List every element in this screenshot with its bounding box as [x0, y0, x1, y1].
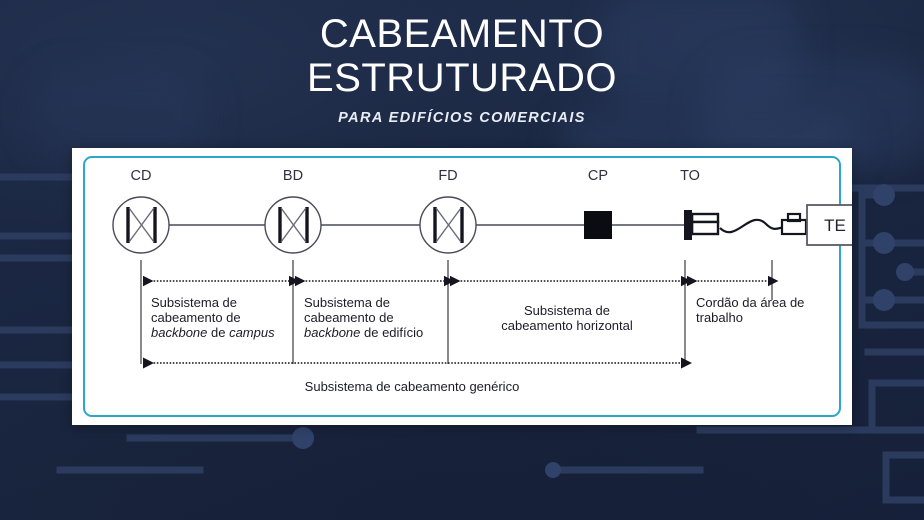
svg-text:cabeamento de: cabeamento de — [304, 310, 394, 325]
slide-root: CABEAMENTO ESTRUTURADO PARA EDIFÍCIOS CO… — [0, 0, 924, 520]
te-label: TE — [824, 216, 846, 235]
segment-label-building-backbone: Subsistema de cabeamento de backbone de … — [304, 295, 423, 340]
slide-header: CABEAMENTO ESTRUTURADO PARA EDIFÍCIOS CO… — [0, 0, 924, 126]
patch-cord — [720, 220, 784, 232]
cabling-diagram: CD BD FD — [72, 148, 852, 425]
seg1-italic: backbone — [304, 325, 360, 340]
diagram-card: CD BD FD — [72, 148, 852, 425]
svg-text:backbone de edifício: backbone de edifício — [304, 325, 423, 340]
consolidation-point-icon — [584, 211, 612, 239]
node-fd-label: FD — [438, 168, 457, 184]
page-title: CABEAMENTO ESTRUTURADO — [0, 0, 924, 100]
segment-label-work-area-cord: Cordão da área de trabalho — [696, 295, 804, 325]
plug-icon — [782, 214, 806, 234]
page-subtitle: PARA EDIFÍCIOS COMERCIAIS — [0, 110, 924, 126]
node-to: TO — [680, 168, 718, 240]
svg-text:trabalho: trabalho — [696, 310, 743, 325]
seg1-rest: de edifício — [360, 325, 423, 340]
segment-label-horizontal-cabling: Subsistema de cabeamento horizontal — [501, 303, 633, 333]
svg-text:cabeamento de: cabeamento de — [151, 310, 241, 325]
overall-label: Subsistema de cabeamento genérico — [305, 379, 520, 394]
seg0-italic: backbone — [151, 325, 207, 340]
node-fd: FD — [420, 168, 476, 253]
svg-text:Subsistema de: Subsistema de — [151, 295, 237, 310]
node-cd-label: CD — [131, 168, 152, 184]
title-line-1: CABEAMENTO — [320, 12, 604, 56]
svg-text:Subsistema de: Subsistema de — [304, 295, 390, 310]
svg-text:Subsistema de: Subsistema de — [524, 303, 610, 318]
segment-label-campus-backbone: Subsistema de cabeamento de backbone de … — [151, 295, 275, 340]
svg-text:Cordão da área de: Cordão da área de — [696, 295, 804, 310]
node-cd: CD — [113, 168, 169, 253]
node-bd-label: BD — [283, 168, 303, 184]
seg0-italic2: campus — [229, 325, 275, 340]
node-cp: CP — [584, 168, 612, 239]
node-cp-label: CP — [588, 168, 608, 184]
terminal-equipment: TE — [807, 205, 852, 245]
svg-text:cabeamento horizontal: cabeamento horizontal — [501, 318, 633, 333]
telecom-outlet-icon — [684, 210, 718, 240]
title-line-2: ESTRUTURADO — [0, 56, 924, 100]
node-bd: BD — [265, 168, 321, 253]
svg-text:backbone de campus: backbone de campus — [151, 325, 275, 340]
node-to-label: TO — [680, 168, 700, 184]
seg0-rest: de — [207, 325, 229, 340]
